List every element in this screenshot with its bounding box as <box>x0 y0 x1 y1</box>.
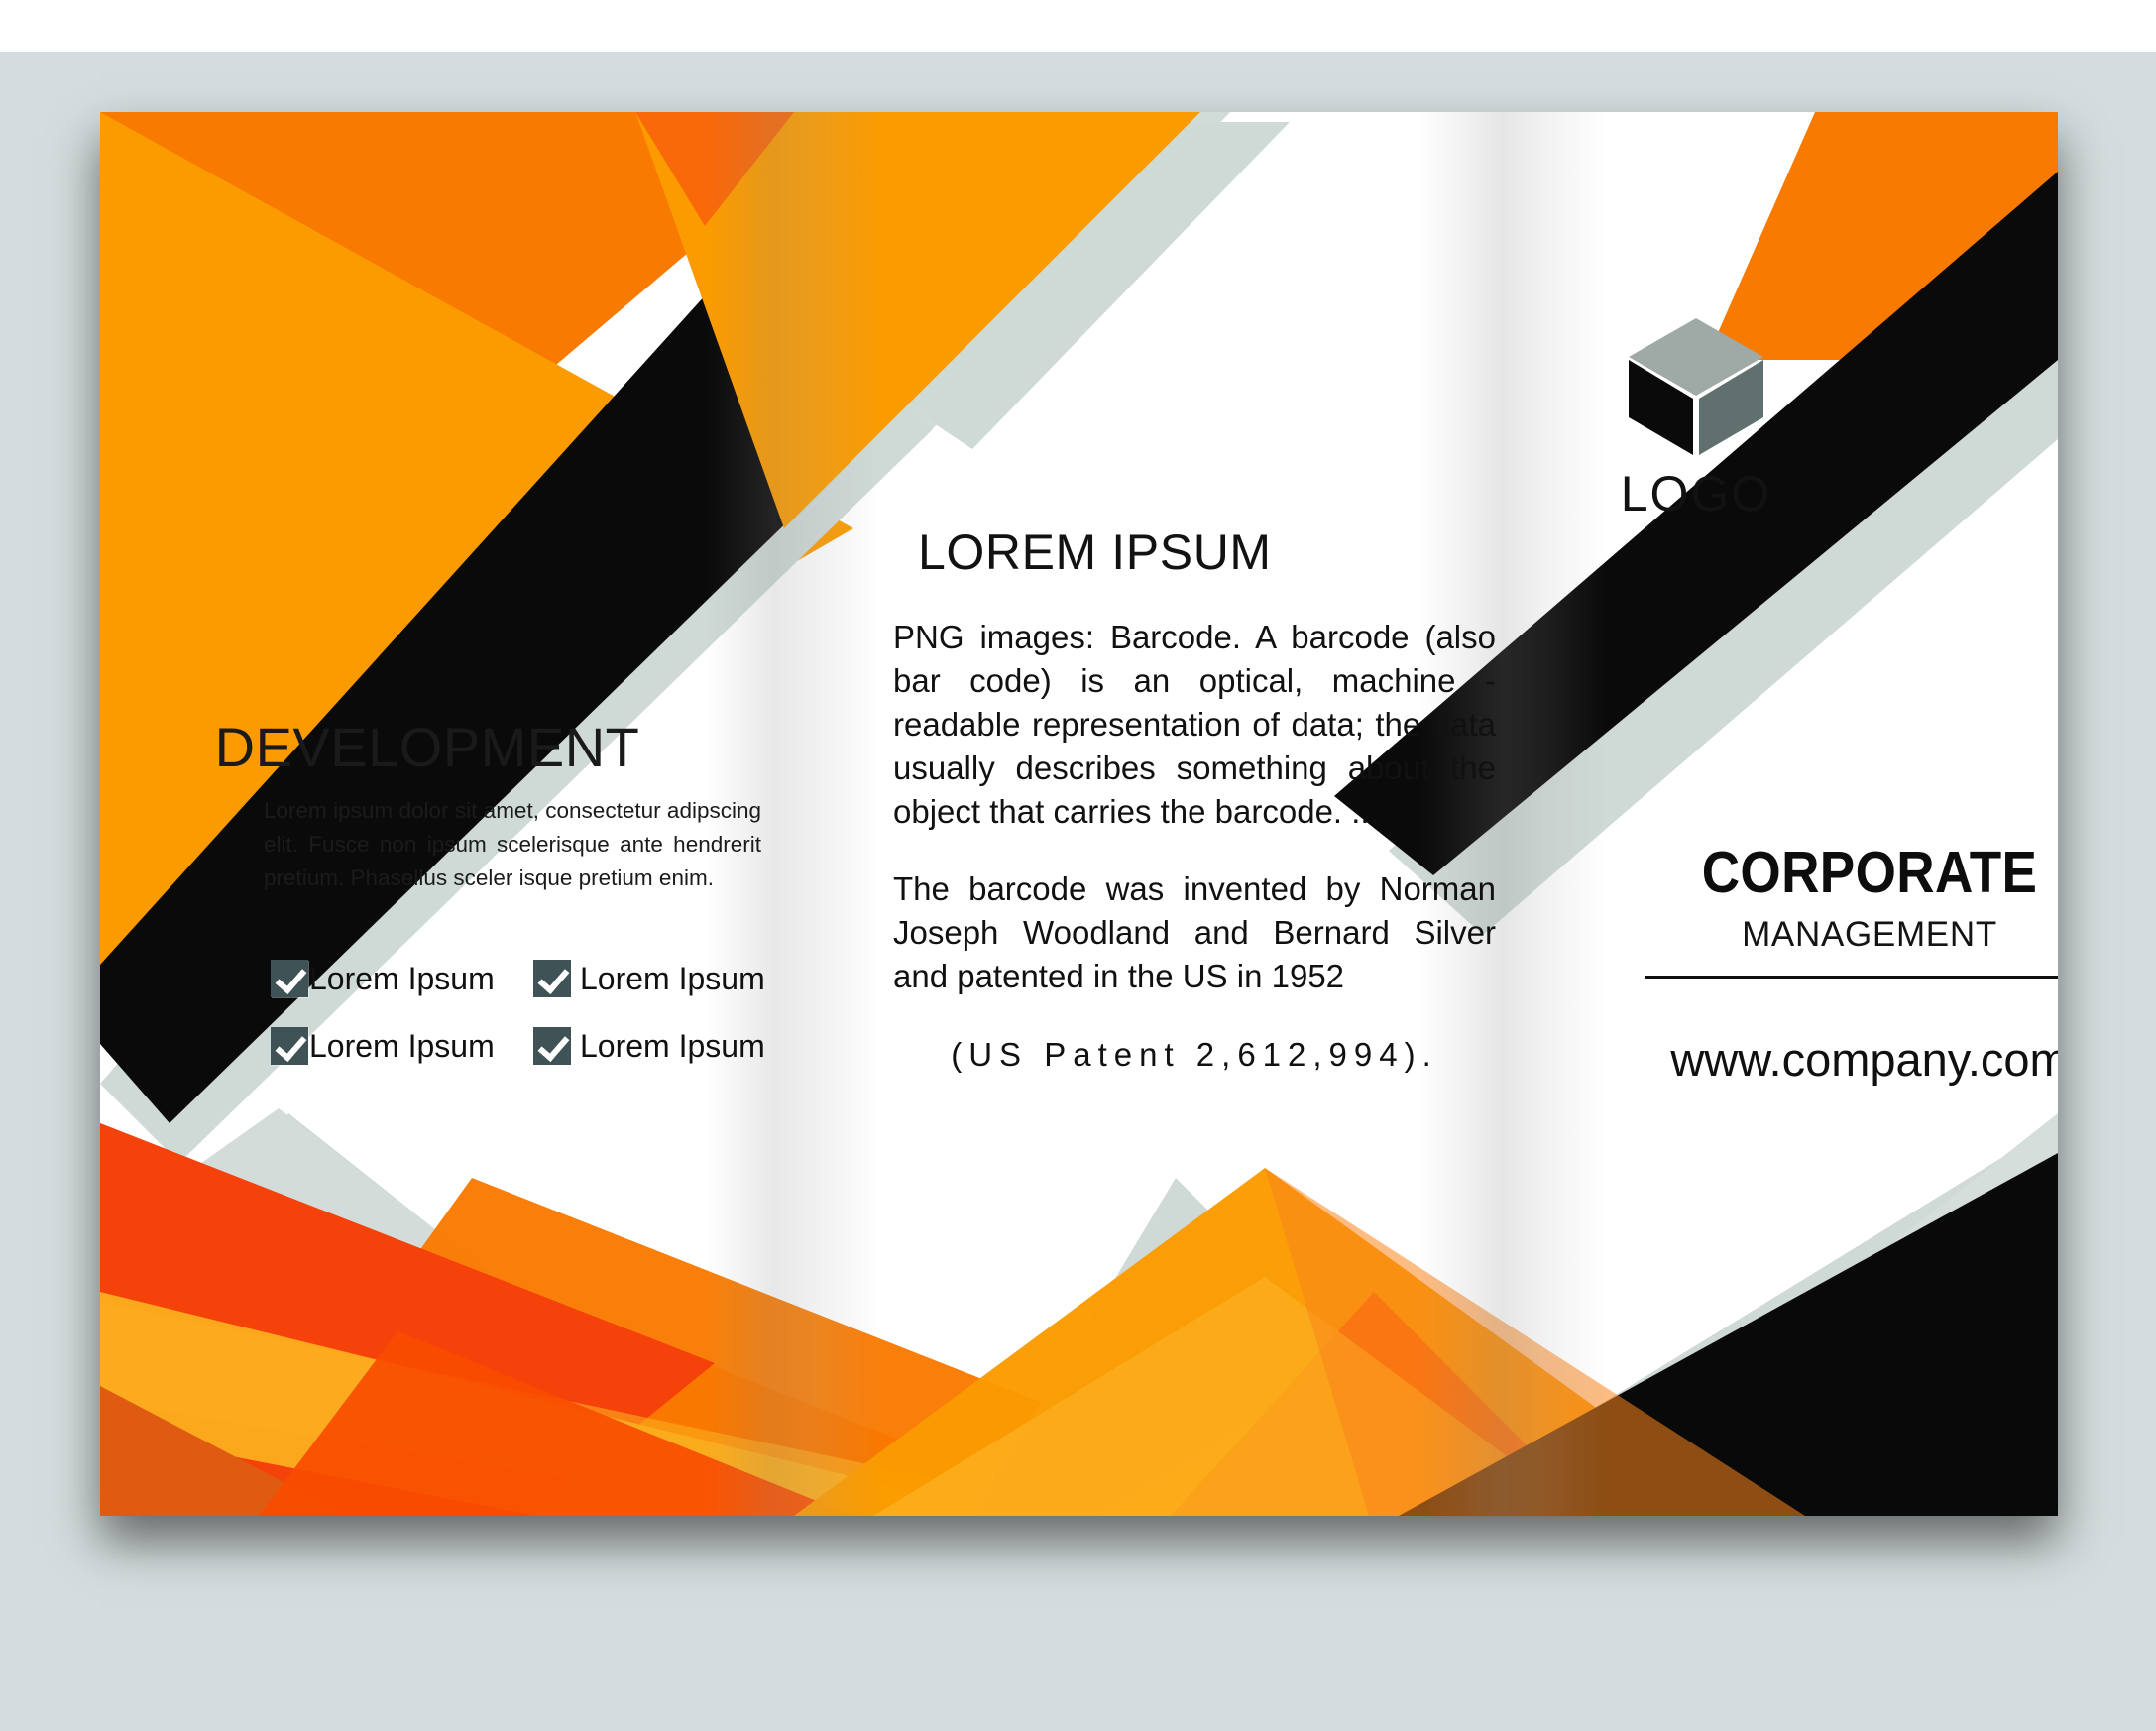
checklist-row: Lorem Ipsum Lorem Ipsum <box>271 960 786 997</box>
divider-rule <box>1645 976 2058 979</box>
development-title: DEVELOPMENT <box>100 715 754 779</box>
development-body-text: Lorem ipsum dolor sit amet, consectetur … <box>264 794 761 895</box>
checklist-item-4[interactable]: Lorem Ipsum <box>533 1027 786 1065</box>
lorem-ipsum-title: LOREM IPSUM <box>918 523 1272 581</box>
checkbox-checked-icon[interactable] <box>271 960 308 997</box>
checklist-item-3[interactable]: Lorem Ipsum <box>271 1027 533 1065</box>
company-title: CORPORATE <box>1669 839 2059 906</box>
logo-block: LOGO <box>1587 310 1805 522</box>
checkbox-checked-icon[interactable] <box>271 1027 308 1065</box>
checklist-item-label: Lorem Ipsum <box>309 961 495 997</box>
checklist-item-label: Lorem Ipsum <box>580 961 765 997</box>
panel-left: DEVELOPMENT Lorem ipsum dolor sit amet, … <box>100 112 754 1516</box>
checkbox-checked-icon[interactable] <box>533 1027 571 1065</box>
barcode-paragraph-2: The barcode was invented by Norman Josep… <box>893 867 1496 998</box>
brochure-canvas: DEVELOPMENT Lorem ipsum dolor sit amet, … <box>0 0 2156 1731</box>
cube-icon <box>1622 310 1770 459</box>
checklist-item-label: Lorem Ipsum <box>309 1028 495 1065</box>
checkbox-checked-icon[interactable] <box>533 960 571 997</box>
checklist-item-2[interactable]: Lorem Ipsum <box>533 960 786 997</box>
logo-label: LOGO <box>1587 465 1805 522</box>
brochure-sheet: DEVELOPMENT Lorem ipsum dolor sit amet, … <box>100 112 2058 1516</box>
company-subtitle: MANAGEMENT <box>1646 915 2058 955</box>
patent-reference: (US Patent 2,612,994). <box>893 1036 1496 1074</box>
company-website[interactable]: www.company.com <box>1607 1032 2058 1087</box>
barcode-paragraph-1: PNG images: Barcode. A barcode (also bar… <box>893 616 1496 834</box>
feature-checklist: Lorem Ipsum Lorem Ipsum Lorem Ipsum Lore… <box>271 960 786 1095</box>
checklist-row: Lorem Ipsum Lorem Ipsum <box>271 1027 786 1065</box>
checklist-item-label: Lorem Ipsum <box>580 1028 765 1065</box>
checklist-item-1[interactable]: Lorem Ipsum <box>271 960 533 997</box>
